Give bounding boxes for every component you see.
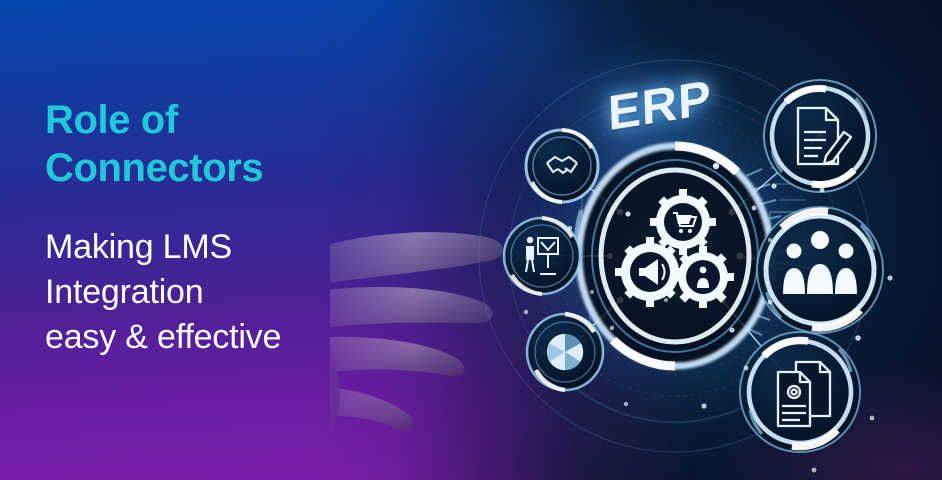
pie-chart-icon: [546, 333, 584, 371]
stacked-documents-icon: [778, 362, 830, 426]
subheadline-line-1: Making LMS: [45, 225, 405, 270]
central-hub[interactable]: [576, 146, 775, 366]
subheadline: Making LMS Integration easy & effective: [45, 225, 405, 360]
headline-line-1: Role of: [45, 96, 405, 144]
node-analytics[interactable]: [527, 314, 603, 390]
node-team[interactable]: [757, 207, 883, 333]
subheadline-line-2: Integration: [45, 270, 405, 315]
headline-line-2: Connectors: [45, 144, 405, 192]
hero-copy: Role of Connectors Making LMS Integratio…: [45, 96, 405, 360]
node-handshake[interactable]: [526, 130, 598, 202]
subheadline-line-3: easy & effective: [45, 315, 405, 360]
node-reports[interactable]: [740, 332, 860, 452]
headline: Role of Connectors: [45, 96, 405, 192]
banner-hero: Role of Connectors Making LMS Integratio…: [0, 0, 942, 480]
node-document-edit[interactable]: [764, 80, 876, 192]
